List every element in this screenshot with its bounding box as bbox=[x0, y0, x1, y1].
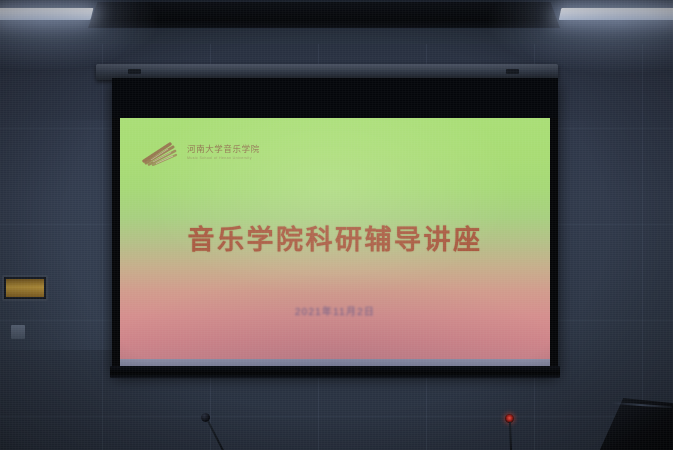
wall-panel-box[interactable] bbox=[2, 275, 48, 301]
university-logo-icon bbox=[140, 140, 180, 166]
slide-footer-band bbox=[120, 359, 550, 366]
wall-panel-face bbox=[6, 279, 44, 297]
ceiling-beam bbox=[88, 2, 560, 28]
light-switch[interactable] bbox=[11, 325, 25, 339]
ceiling-light-strip-left bbox=[0, 8, 93, 20]
housing-endcap-right bbox=[506, 69, 519, 74]
logo-name-cn: 河南大学音乐学院 bbox=[187, 145, 260, 154]
slide-title: 音乐学院科研辅导讲座 bbox=[120, 218, 550, 257]
slide-subtitle-date: 2021年11月2日 bbox=[120, 303, 550, 318]
screen-bottom-weight-bar bbox=[110, 366, 560, 378]
housing-endcap-left bbox=[128, 69, 141, 74]
ceiling-light-strip-right bbox=[559, 8, 673, 20]
logo-text-lockup: 河南大学音乐学院 Music School of Henan Universit… bbox=[187, 145, 260, 160]
slide-logo: 河南大学音乐学院 Music School of Henan Universit… bbox=[140, 140, 260, 166]
projection-screen: 河南大学音乐学院 Music School of Henan Universit… bbox=[112, 78, 558, 374]
lecture-hall-scene: 河南大学音乐学院 Music School of Henan Universit… bbox=[0, 0, 673, 450]
screen-top-mask bbox=[112, 78, 558, 118]
logo-name-en: Music School of Henan University bbox=[187, 157, 260, 161]
projected-slide: 河南大学音乐学院 Music School of Henan Universit… bbox=[120, 118, 550, 366]
